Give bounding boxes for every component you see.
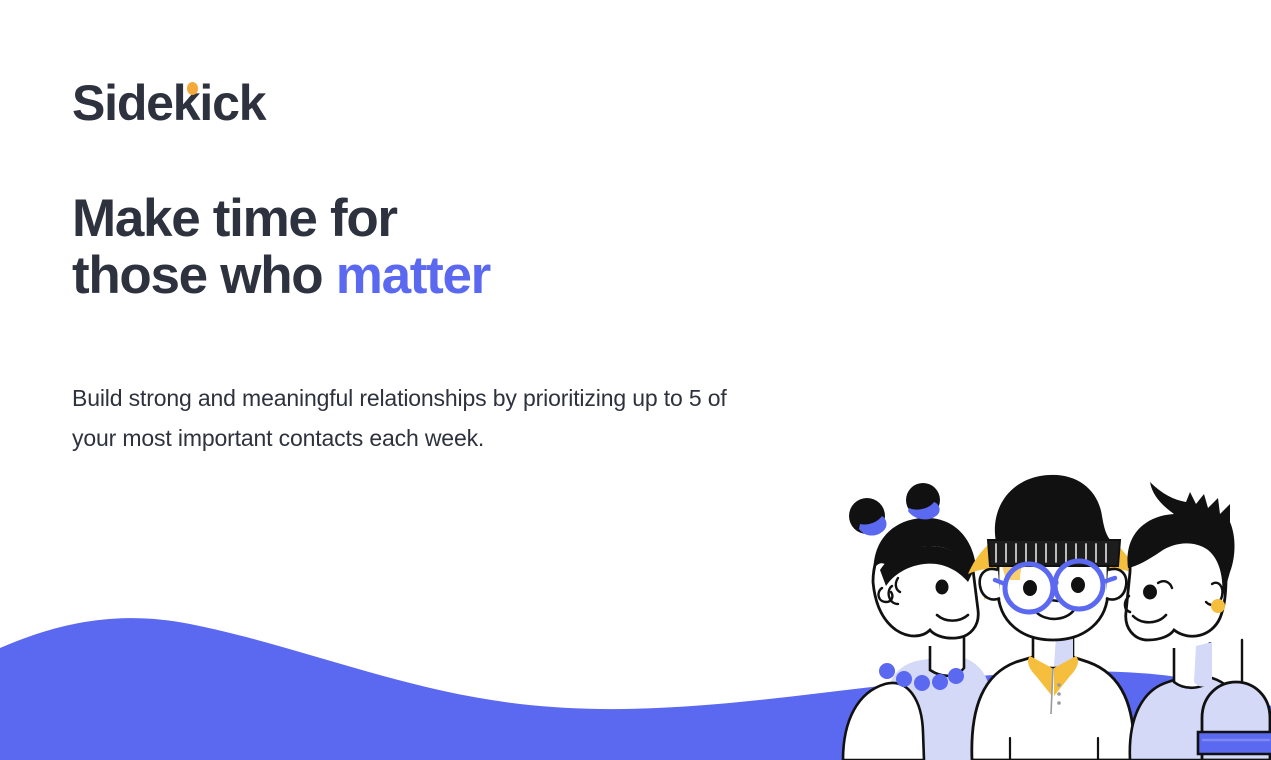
logo-dot-icon	[187, 82, 198, 95]
brand-logo-text-part1: Sidek	[72, 75, 199, 131]
headline-line-2-plain: those who	[72, 246, 336, 305]
character-center-placket	[1051, 668, 1053, 714]
character-center-beanie-brim	[988, 540, 1120, 566]
character-center	[968, 475, 1136, 760]
character-left-smile	[937, 615, 968, 621]
character-right-neck	[1174, 642, 1210, 688]
character-center-neck-shadow	[1054, 634, 1073, 667]
hero-subcopy: Build strong and meaningful relationship…	[72, 378, 762, 458]
character-right-sleeve	[1202, 682, 1270, 760]
character-left-shoulder	[843, 683, 924, 760]
character-center-collar-right	[1054, 656, 1078, 696]
character-center-head	[998, 514, 1108, 640]
character-center-button-1	[1057, 683, 1061, 687]
character-center-neck	[1033, 630, 1073, 668]
three-friends-illustration	[830, 470, 1271, 760]
headline-line-1: Make time for	[72, 189, 397, 248]
character-center-glasses	[995, 561, 1115, 612]
character-left-ear-curl-2	[889, 586, 898, 604]
character-center-hair	[968, 532, 1136, 600]
character-center-beanie-ribs	[996, 544, 1106, 562]
character-right-eyebrow	[1158, 581, 1172, 588]
character-center-collar	[1028, 656, 1052, 696]
brand-logo-text-part2: ick	[199, 75, 265, 131]
headline-accent-word: matter	[336, 246, 490, 305]
character-right-hair	[1127, 482, 1234, 600]
character-left-hair	[874, 518, 976, 578]
character-left-eye	[936, 580, 949, 595]
character-center-smile	[1036, 610, 1074, 619]
character-center-button-2	[1057, 692, 1061, 696]
character-right-smile	[1133, 615, 1166, 622]
character-center-eye-left	[1023, 580, 1037, 596]
character-left-bun-2	[906, 483, 940, 517]
character-right-ear	[1206, 583, 1222, 605]
character-right-head	[1126, 522, 1226, 640]
character-center-ear-left	[980, 569, 1000, 600]
character-left-neck	[930, 636, 964, 676]
character-right-nose	[1125, 596, 1130, 612]
character-right-eye	[1143, 585, 1157, 600]
character-right-neck-shadow	[1194, 642, 1212, 687]
character-left-scrunchie-1	[859, 516, 887, 536]
character-center-beanie-crown	[995, 475, 1112, 542]
character-left-hair-wisp	[896, 578, 900, 592]
character-left-necklace	[879, 663, 964, 691]
character-center-fringe	[1002, 544, 1036, 580]
character-left	[843, 483, 992, 760]
character-right-armband	[1198, 732, 1271, 754]
brand-logo[interactable]: Sidekick	[72, 78, 265, 128]
hero-content: Sidekick Make time for those who matter …	[72, 0, 792, 481]
character-center-body	[972, 656, 1134, 760]
character-left-head	[873, 526, 978, 638]
character-right	[1125, 482, 1271, 760]
character-right-top	[1130, 676, 1250, 760]
wave-shape	[0, 618, 1271, 760]
character-center-nose	[1050, 584, 1058, 601]
character-left-scrunchie-2	[908, 502, 940, 519]
character-center-eye-right	[1071, 577, 1085, 593]
character-center-button-3	[1057, 701, 1061, 705]
character-left-bangs	[880, 546, 973, 586]
landing-hero-screen: Sidekick Make time for those who matter …	[0, 0, 1271, 760]
character-right-earring	[1211, 599, 1225, 613]
character-left-ear-curl-1	[879, 588, 893, 602]
character-left-top	[880, 656, 992, 760]
page-title: Make time for those who matter	[72, 191, 792, 304]
character-center-ear-right	[1106, 569, 1126, 600]
character-left-bun-1	[849, 498, 885, 534]
